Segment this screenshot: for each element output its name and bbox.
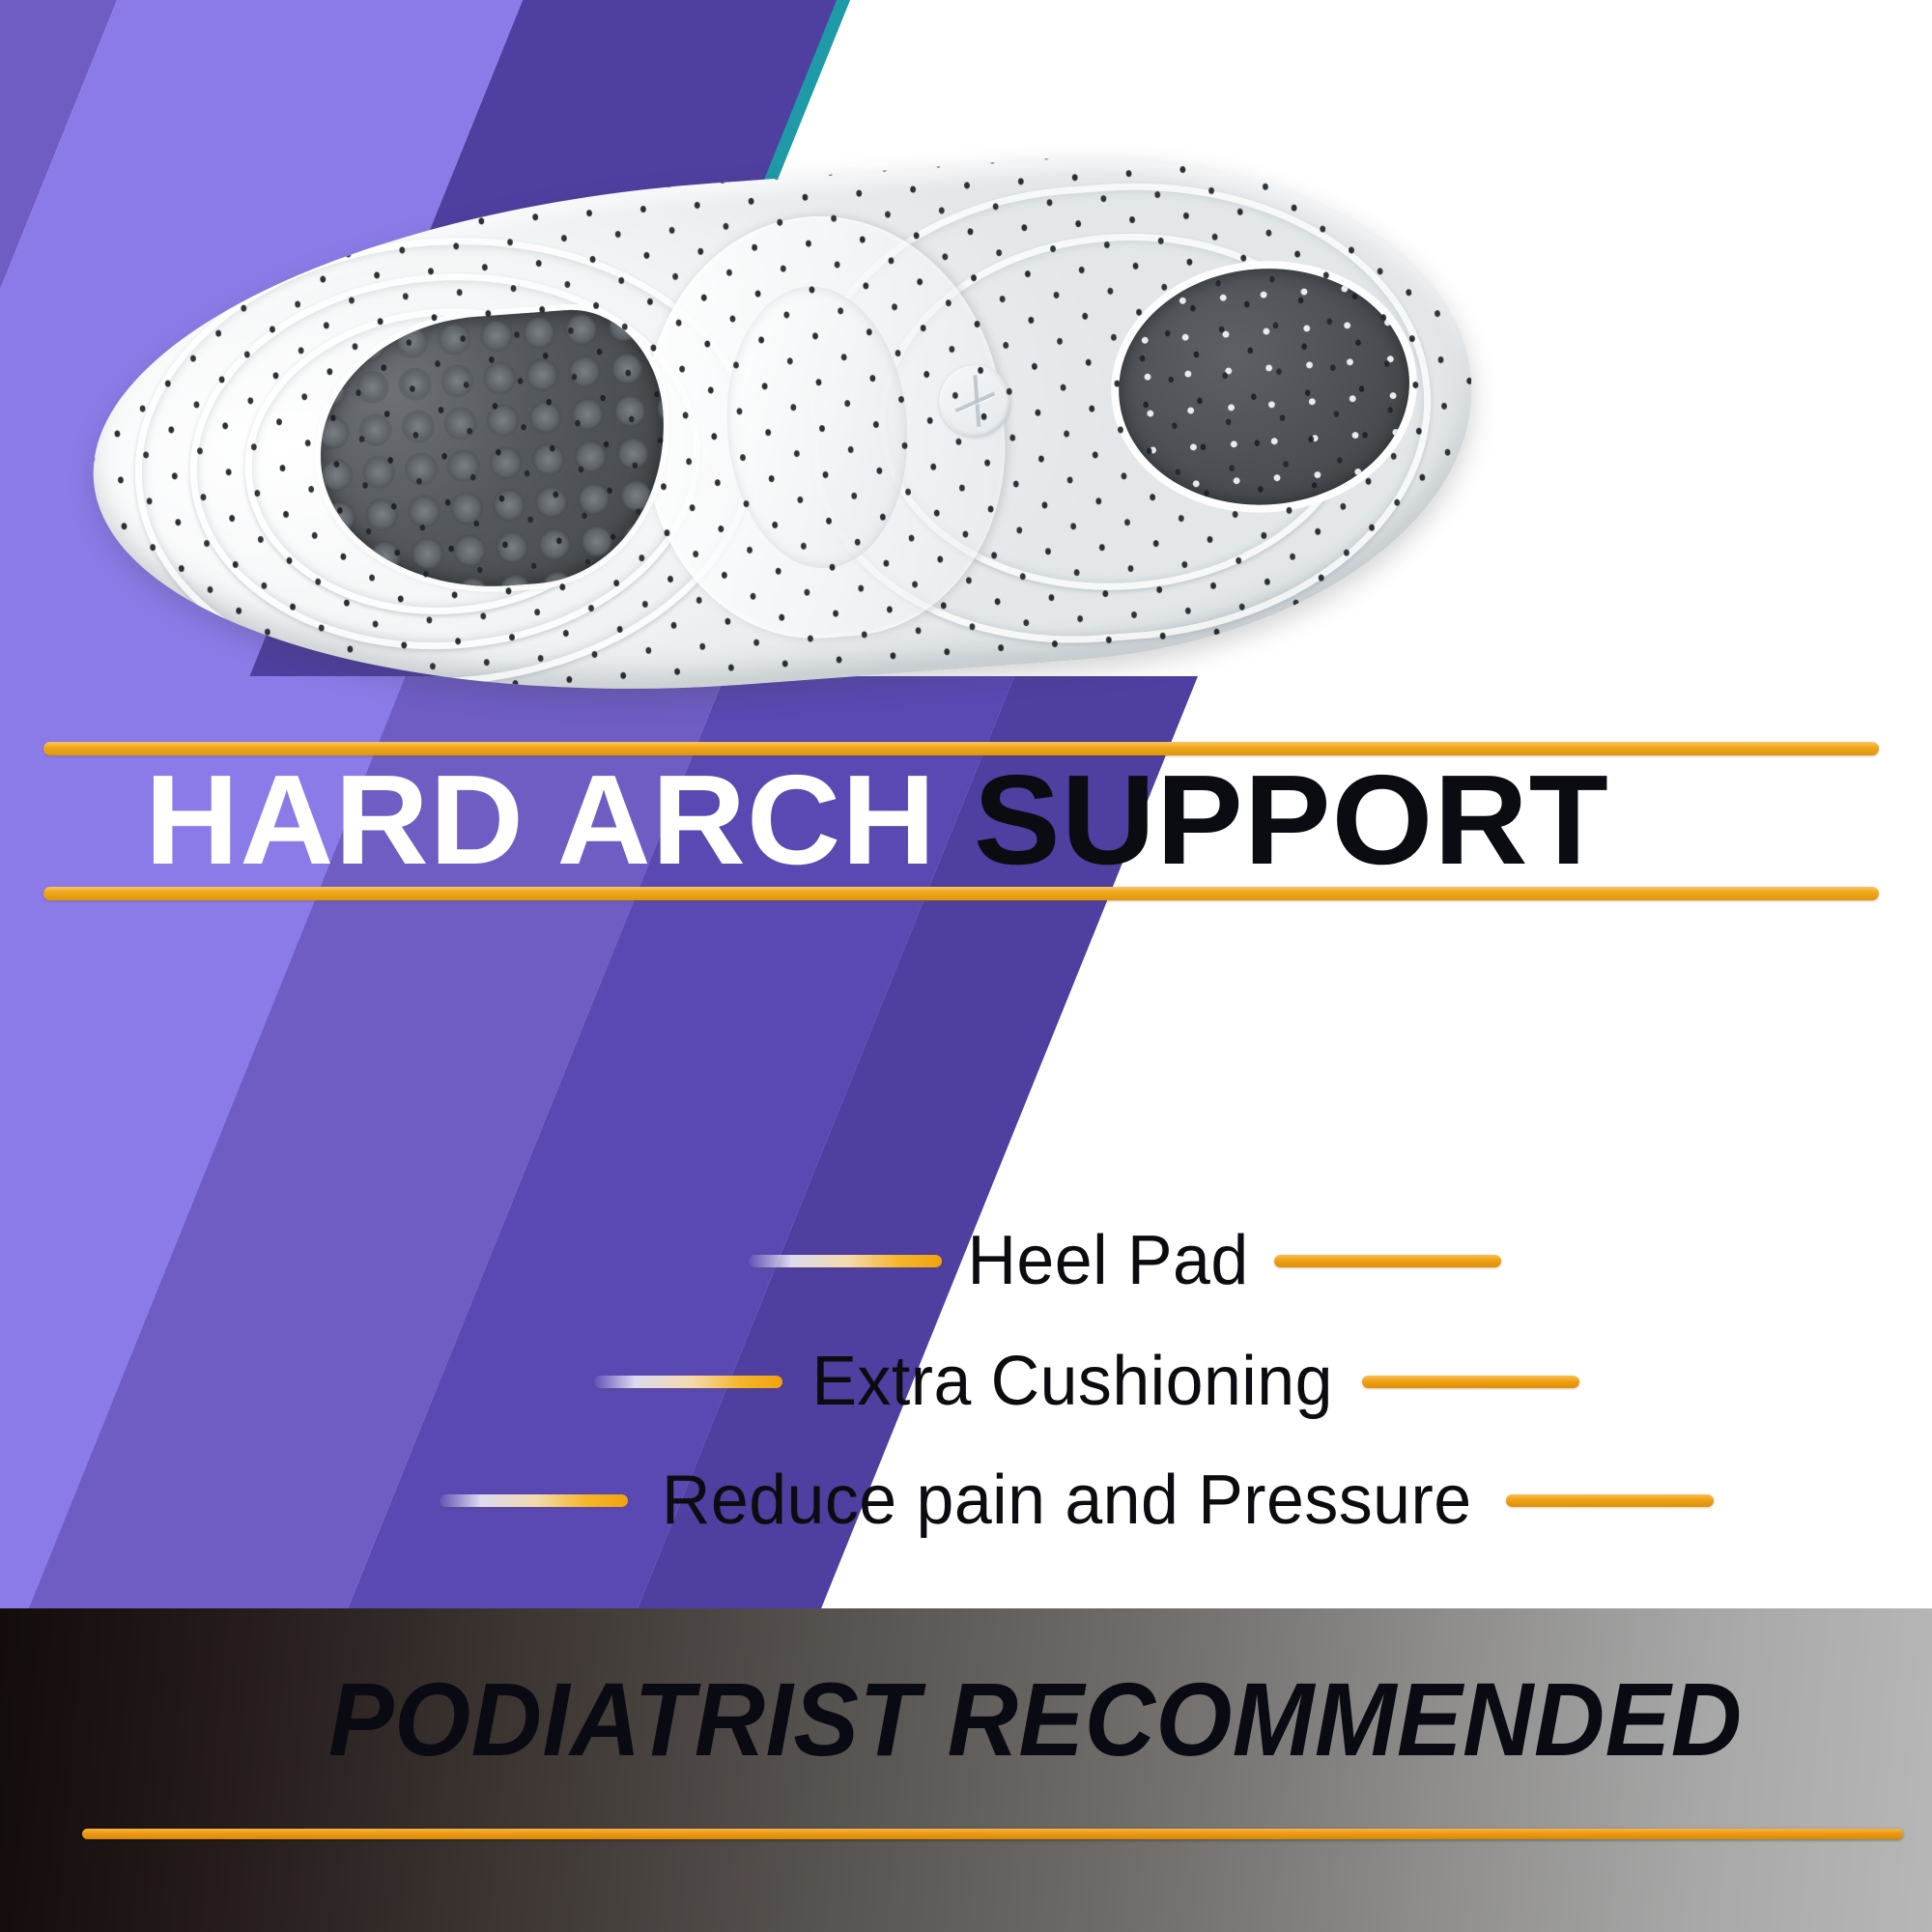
heel-cushion-pad xyxy=(1111,259,1417,516)
feature-label: Extra Cushioning xyxy=(791,1342,1353,1421)
heel-pad-perforations xyxy=(1111,259,1417,516)
bubble-gel-forefoot-pad xyxy=(311,303,675,599)
headline-block: HARD ARCH SUPPORT xyxy=(0,724,1932,947)
page-title-black-segment: SUPPORT xyxy=(974,749,1609,891)
page-title-white-segment: HARD ARCH xyxy=(145,749,974,891)
feature-lead-line xyxy=(594,1376,782,1388)
feature-tail-line xyxy=(1274,1255,1501,1267)
banner-rule xyxy=(82,1829,1903,1839)
feature-label: Heel Pad xyxy=(947,1221,1269,1300)
orthotic-insole-image xyxy=(75,128,1490,730)
list-item: Reduce pain and Pressure xyxy=(440,1447,1714,1553)
banner-headline: PODIATRIST RECOMMENDED xyxy=(328,1659,1743,1779)
list-item: Heel Pad xyxy=(749,1207,1501,1314)
headline-rule-bottom xyxy=(43,887,1879,900)
insole-body xyxy=(75,128,1490,730)
feature-lead-line xyxy=(749,1255,942,1267)
list-item: Extra Cushioning xyxy=(594,1328,1579,1435)
feature-list: Heel Pad Extra Cushioning Reduce pain an… xyxy=(0,1198,1932,1584)
bubble-texture xyxy=(311,303,675,599)
feature-tail-line xyxy=(1362,1376,1579,1388)
product-marketing-image: HARD ARCH SUPPORT Heel Pad Extra Cushion… xyxy=(0,0,1932,1932)
feature-lead-line xyxy=(440,1494,628,1507)
page-title: HARD ARCH SUPPORT xyxy=(145,753,1609,887)
bottom-banner: PODIATRIST RECOMMENDED xyxy=(0,1608,1932,1932)
feature-tail-line xyxy=(1506,1494,1714,1507)
feature-label: Reduce pain and Pressure xyxy=(641,1461,1492,1540)
